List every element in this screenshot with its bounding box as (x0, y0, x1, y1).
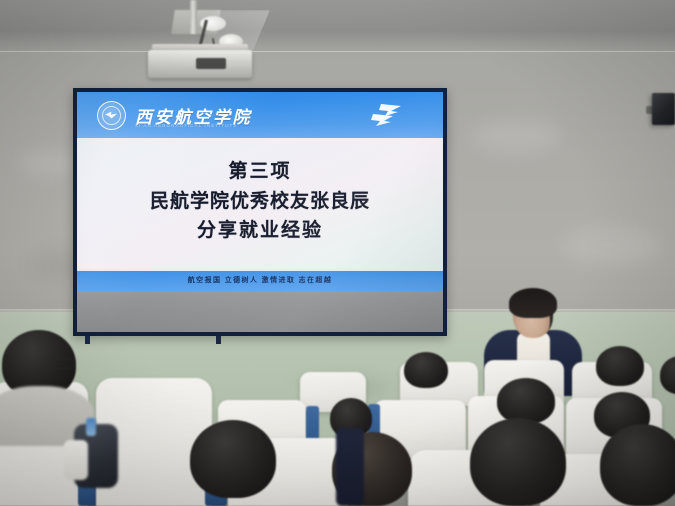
projection-screen-icon: 西安航空学院 XI'AN AERONAUTICAL INSTITUTE 第三项 … (73, 88, 447, 336)
slide-footer-motto: 航空报国 立德树人 激情进取 志在超越 (188, 275, 332, 285)
slide-title-line-2: 民航学院优秀校友张良辰 (150, 189, 370, 214)
audience-head (596, 346, 644, 386)
audience-head (497, 378, 555, 424)
slide-footer-bar: 航空报国 立德树人 激情进取 志在超越 (77, 269, 443, 291)
white-cloth-item (64, 440, 88, 480)
screen-surface: 西安航空学院 XI'AN AERONAUTICAL INSTITUTE 第三项 … (77, 92, 443, 332)
screen-unused-lower-area (77, 291, 443, 332)
presenter-hair (509, 288, 557, 318)
screen-support-leg (216, 336, 221, 344)
school-name-subtitle: XI'AN AERONAUTICAL INSTITUTE (135, 123, 238, 128)
slide-title-line-1: 第三项 (228, 159, 291, 184)
eyeglasses-icon (46, 358, 74, 369)
wall-speaker-icon (652, 93, 675, 125)
audience-head (404, 352, 448, 388)
wall-texture-mark (470, 120, 560, 154)
projector-vent (196, 58, 226, 69)
water-bottle-icon (86, 418, 96, 436)
audience-head (470, 418, 566, 506)
audience-head (600, 424, 675, 506)
slide-title-block: 第三项 民航学院优秀校友张良辰 分享就业经验 (77, 138, 443, 269)
wall-texture-mark (18, 150, 78, 176)
screen-support-leg (85, 336, 90, 344)
projector-mount-pole (190, 0, 197, 34)
ceiling (0, 0, 675, 56)
school-seal-icon (97, 101, 126, 130)
slide-header-bar: 西安航空学院 XI'AN AERONAUTICAL INSTITUTE (77, 92, 443, 138)
twin-bird-emblem-icon (367, 100, 415, 130)
audience-head (190, 420, 276, 498)
presentation-slide: 西安航空学院 XI'AN AERONAUTICAL INSTITUTE 第三项 … (77, 92, 443, 291)
bag-strap (336, 428, 364, 506)
lecture-hall-photograph: 西安航空学院 XI'AN AERONAUTICAL INSTITUTE 第三项 … (0, 0, 675, 506)
slide-title-line-3: 分享就业经验 (197, 218, 323, 243)
wall-texture-mark (560, 225, 660, 265)
